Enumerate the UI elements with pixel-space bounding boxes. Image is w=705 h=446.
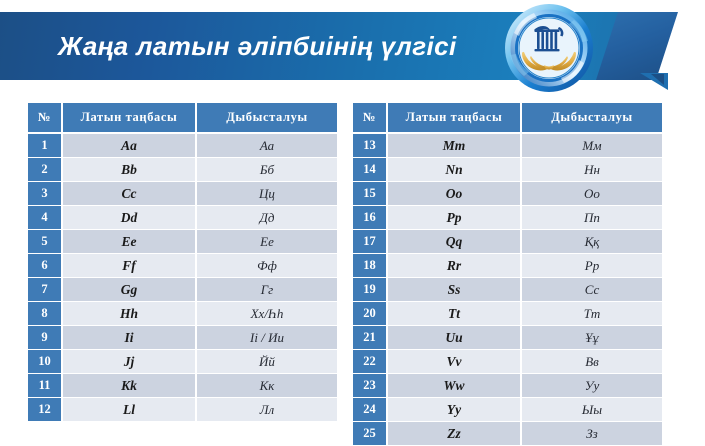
column-header-number: № xyxy=(353,103,388,134)
table-row: 10JjЙй xyxy=(28,350,337,374)
column-header-latin: Латын таңбасы xyxy=(388,103,522,134)
cell-latin-letter: Jj xyxy=(63,350,197,374)
cell-latin-letter: Kk xyxy=(63,374,197,398)
cell-latin-letter: Gg xyxy=(63,278,197,302)
table-row: 12LlЛл xyxy=(28,398,337,422)
cell-number: 8 xyxy=(28,302,63,326)
cell-cyrillic-sound: Мм xyxy=(522,134,662,158)
table-row: 25ZzЗз xyxy=(353,422,662,446)
table-row: 11KkКк xyxy=(28,374,337,398)
cell-latin-letter: Bb xyxy=(63,158,197,182)
cell-cyrillic-sound: Лл xyxy=(197,398,337,422)
table-row: 19SsСс xyxy=(353,278,662,302)
table-row: 22VvВв xyxy=(353,350,662,374)
cell-cyrillic-sound: Хх/Һһ xyxy=(197,302,337,326)
table-row: 18RrРр xyxy=(353,254,662,278)
header-banner: Жаңа латын әліпбиінің үлгісі xyxy=(0,0,705,96)
cell-number: 14 xyxy=(353,158,388,182)
cell-number: 15 xyxy=(353,182,388,206)
table-row: 24YyЫы xyxy=(353,398,662,422)
cell-latin-letter: Ww xyxy=(388,374,522,398)
table-row: 6FfФф xyxy=(28,254,337,278)
table-row: 7GgГг xyxy=(28,278,337,302)
cell-number: 5 xyxy=(28,230,63,254)
cell-number: 4 xyxy=(28,206,63,230)
cell-cyrillic-sound: Ққ xyxy=(522,230,662,254)
cell-latin-letter: Hh xyxy=(63,302,197,326)
cell-number: 22 xyxy=(353,350,388,374)
alphabet-rows-left: 1AaАа2BbБб3CcЦц4DdДд5EeЕе6FfФф7GgГг8HhХх… xyxy=(28,134,337,422)
cell-cyrillic-sound: Вв xyxy=(522,350,662,374)
cell-number: 21 xyxy=(353,326,388,350)
table-row: 21UuҰұ xyxy=(353,326,662,350)
cell-number: 2 xyxy=(28,158,63,182)
cell-cyrillic-sound: Тт xyxy=(522,302,662,326)
cell-latin-letter: Pp xyxy=(388,206,522,230)
table-row: 23WwУу xyxy=(353,374,662,398)
institute-logo-icon xyxy=(504,3,594,93)
table-row: 9IiІі / Ии xyxy=(28,326,337,350)
table-row: 5EeЕе xyxy=(28,230,337,254)
cell-cyrillic-sound: Рр xyxy=(522,254,662,278)
cell-latin-letter: Ii xyxy=(63,326,197,350)
cell-latin-letter: Dd xyxy=(63,206,197,230)
cell-latin-letter: Yy xyxy=(388,398,522,422)
cell-latin-letter: Cc xyxy=(63,182,197,206)
cell-number: 9 xyxy=(28,326,63,350)
cell-cyrillic-sound: Йй xyxy=(197,350,337,374)
cell-cyrillic-sound: Сс xyxy=(522,278,662,302)
table-row: 1AaАа xyxy=(28,134,337,158)
table-row: 4DdДд xyxy=(28,206,337,230)
column-header-sound: Дыбысталуы xyxy=(197,103,337,134)
cell-number: 19 xyxy=(353,278,388,302)
cell-number: 25 xyxy=(353,422,388,446)
table-row: 17QqҚқ xyxy=(353,230,662,254)
cell-number: 11 xyxy=(28,374,63,398)
cell-number: 20 xyxy=(353,302,388,326)
table-header-row: № Латын таңбасы Дыбысталуы xyxy=(28,103,337,134)
alphabet-rows-right: 13MmМм14NnНн15OoОо16PpПп17QqҚқ18RrРр19Ss… xyxy=(353,134,662,446)
cell-cyrillic-sound: Нн xyxy=(522,158,662,182)
cell-latin-letter: Aa xyxy=(63,134,197,158)
cell-cyrillic-sound: Аа xyxy=(197,134,337,158)
cell-latin-letter: Oo xyxy=(388,182,522,206)
cell-cyrillic-sound: Бб xyxy=(197,158,337,182)
table-row: 3CcЦц xyxy=(28,182,337,206)
cell-latin-letter: Mm xyxy=(388,134,522,158)
cell-cyrillic-sound: Уу xyxy=(522,374,662,398)
alphabet-table-right: № Латын таңбасы Дыбысталуы 13MmМм14NnНн1… xyxy=(353,103,662,446)
cell-cyrillic-sound: Дд xyxy=(197,206,337,230)
table-row: 2BbБб xyxy=(28,158,337,182)
cell-latin-letter: Tt xyxy=(388,302,522,326)
table-row: 8HhХх/Һһ xyxy=(28,302,337,326)
cell-cyrillic-sound: Зз xyxy=(522,422,662,446)
cell-latin-letter: Vv xyxy=(388,350,522,374)
column-header-latin: Латын таңбасы xyxy=(63,103,197,134)
cell-cyrillic-sound: Пп xyxy=(522,206,662,230)
table-row: 15OoОо xyxy=(353,182,662,206)
cell-number: 1 xyxy=(28,134,63,158)
cell-cyrillic-sound: Гг xyxy=(197,278,337,302)
cell-number: 23 xyxy=(353,374,388,398)
cell-cyrillic-sound: Кк xyxy=(197,374,337,398)
cell-cyrillic-sound: Фф xyxy=(197,254,337,278)
cell-latin-letter: Ll xyxy=(63,398,197,422)
table-row: 13MmМм xyxy=(353,134,662,158)
cell-cyrillic-sound: Ее xyxy=(197,230,337,254)
column-header-number: № xyxy=(28,103,63,134)
cell-number: 6 xyxy=(28,254,63,278)
cell-number: 13 xyxy=(353,134,388,158)
cell-number: 3 xyxy=(28,182,63,206)
cell-cyrillic-sound: Оо xyxy=(522,182,662,206)
cell-latin-letter: Rr xyxy=(388,254,522,278)
cell-latin-letter: Ff xyxy=(63,254,197,278)
column-header-sound: Дыбысталуы xyxy=(522,103,662,134)
cell-number: 7 xyxy=(28,278,63,302)
cell-number: 18 xyxy=(353,254,388,278)
table-header-row: № Латын таңбасы Дыбысталуы xyxy=(353,103,662,134)
alphabet-tables: № Латын таңбасы Дыбысталуы 1AaАа2BbБб3Cc… xyxy=(0,96,705,446)
cell-number: 17 xyxy=(353,230,388,254)
table-row: 14NnНн xyxy=(353,158,662,182)
cell-cyrillic-sound: Іі / Ии xyxy=(197,326,337,350)
cell-number: 10 xyxy=(28,350,63,374)
cell-number: 16 xyxy=(353,206,388,230)
table-row: 16PpПп xyxy=(353,206,662,230)
cell-number: 12 xyxy=(28,398,63,422)
table-row: 20TtТт xyxy=(353,302,662,326)
cell-latin-letter: Nn xyxy=(388,158,522,182)
cell-cyrillic-sound: Цц xyxy=(197,182,337,206)
cell-cyrillic-sound: Ыы xyxy=(522,398,662,422)
cell-latin-letter: Zz xyxy=(388,422,522,446)
cell-latin-letter: Uu xyxy=(388,326,522,350)
cell-cyrillic-sound: Ұұ xyxy=(522,326,662,350)
cell-latin-letter: Ss xyxy=(388,278,522,302)
cell-number: 24 xyxy=(353,398,388,422)
cell-latin-letter: Qq xyxy=(388,230,522,254)
page-title: Жаңа латын әліпбиінің үлгісі xyxy=(58,24,508,68)
cell-latin-letter: Ee xyxy=(63,230,197,254)
alphabet-table-left: № Латын таңбасы Дыбысталуы 1AaАа2BbБб3Cc… xyxy=(28,103,337,422)
